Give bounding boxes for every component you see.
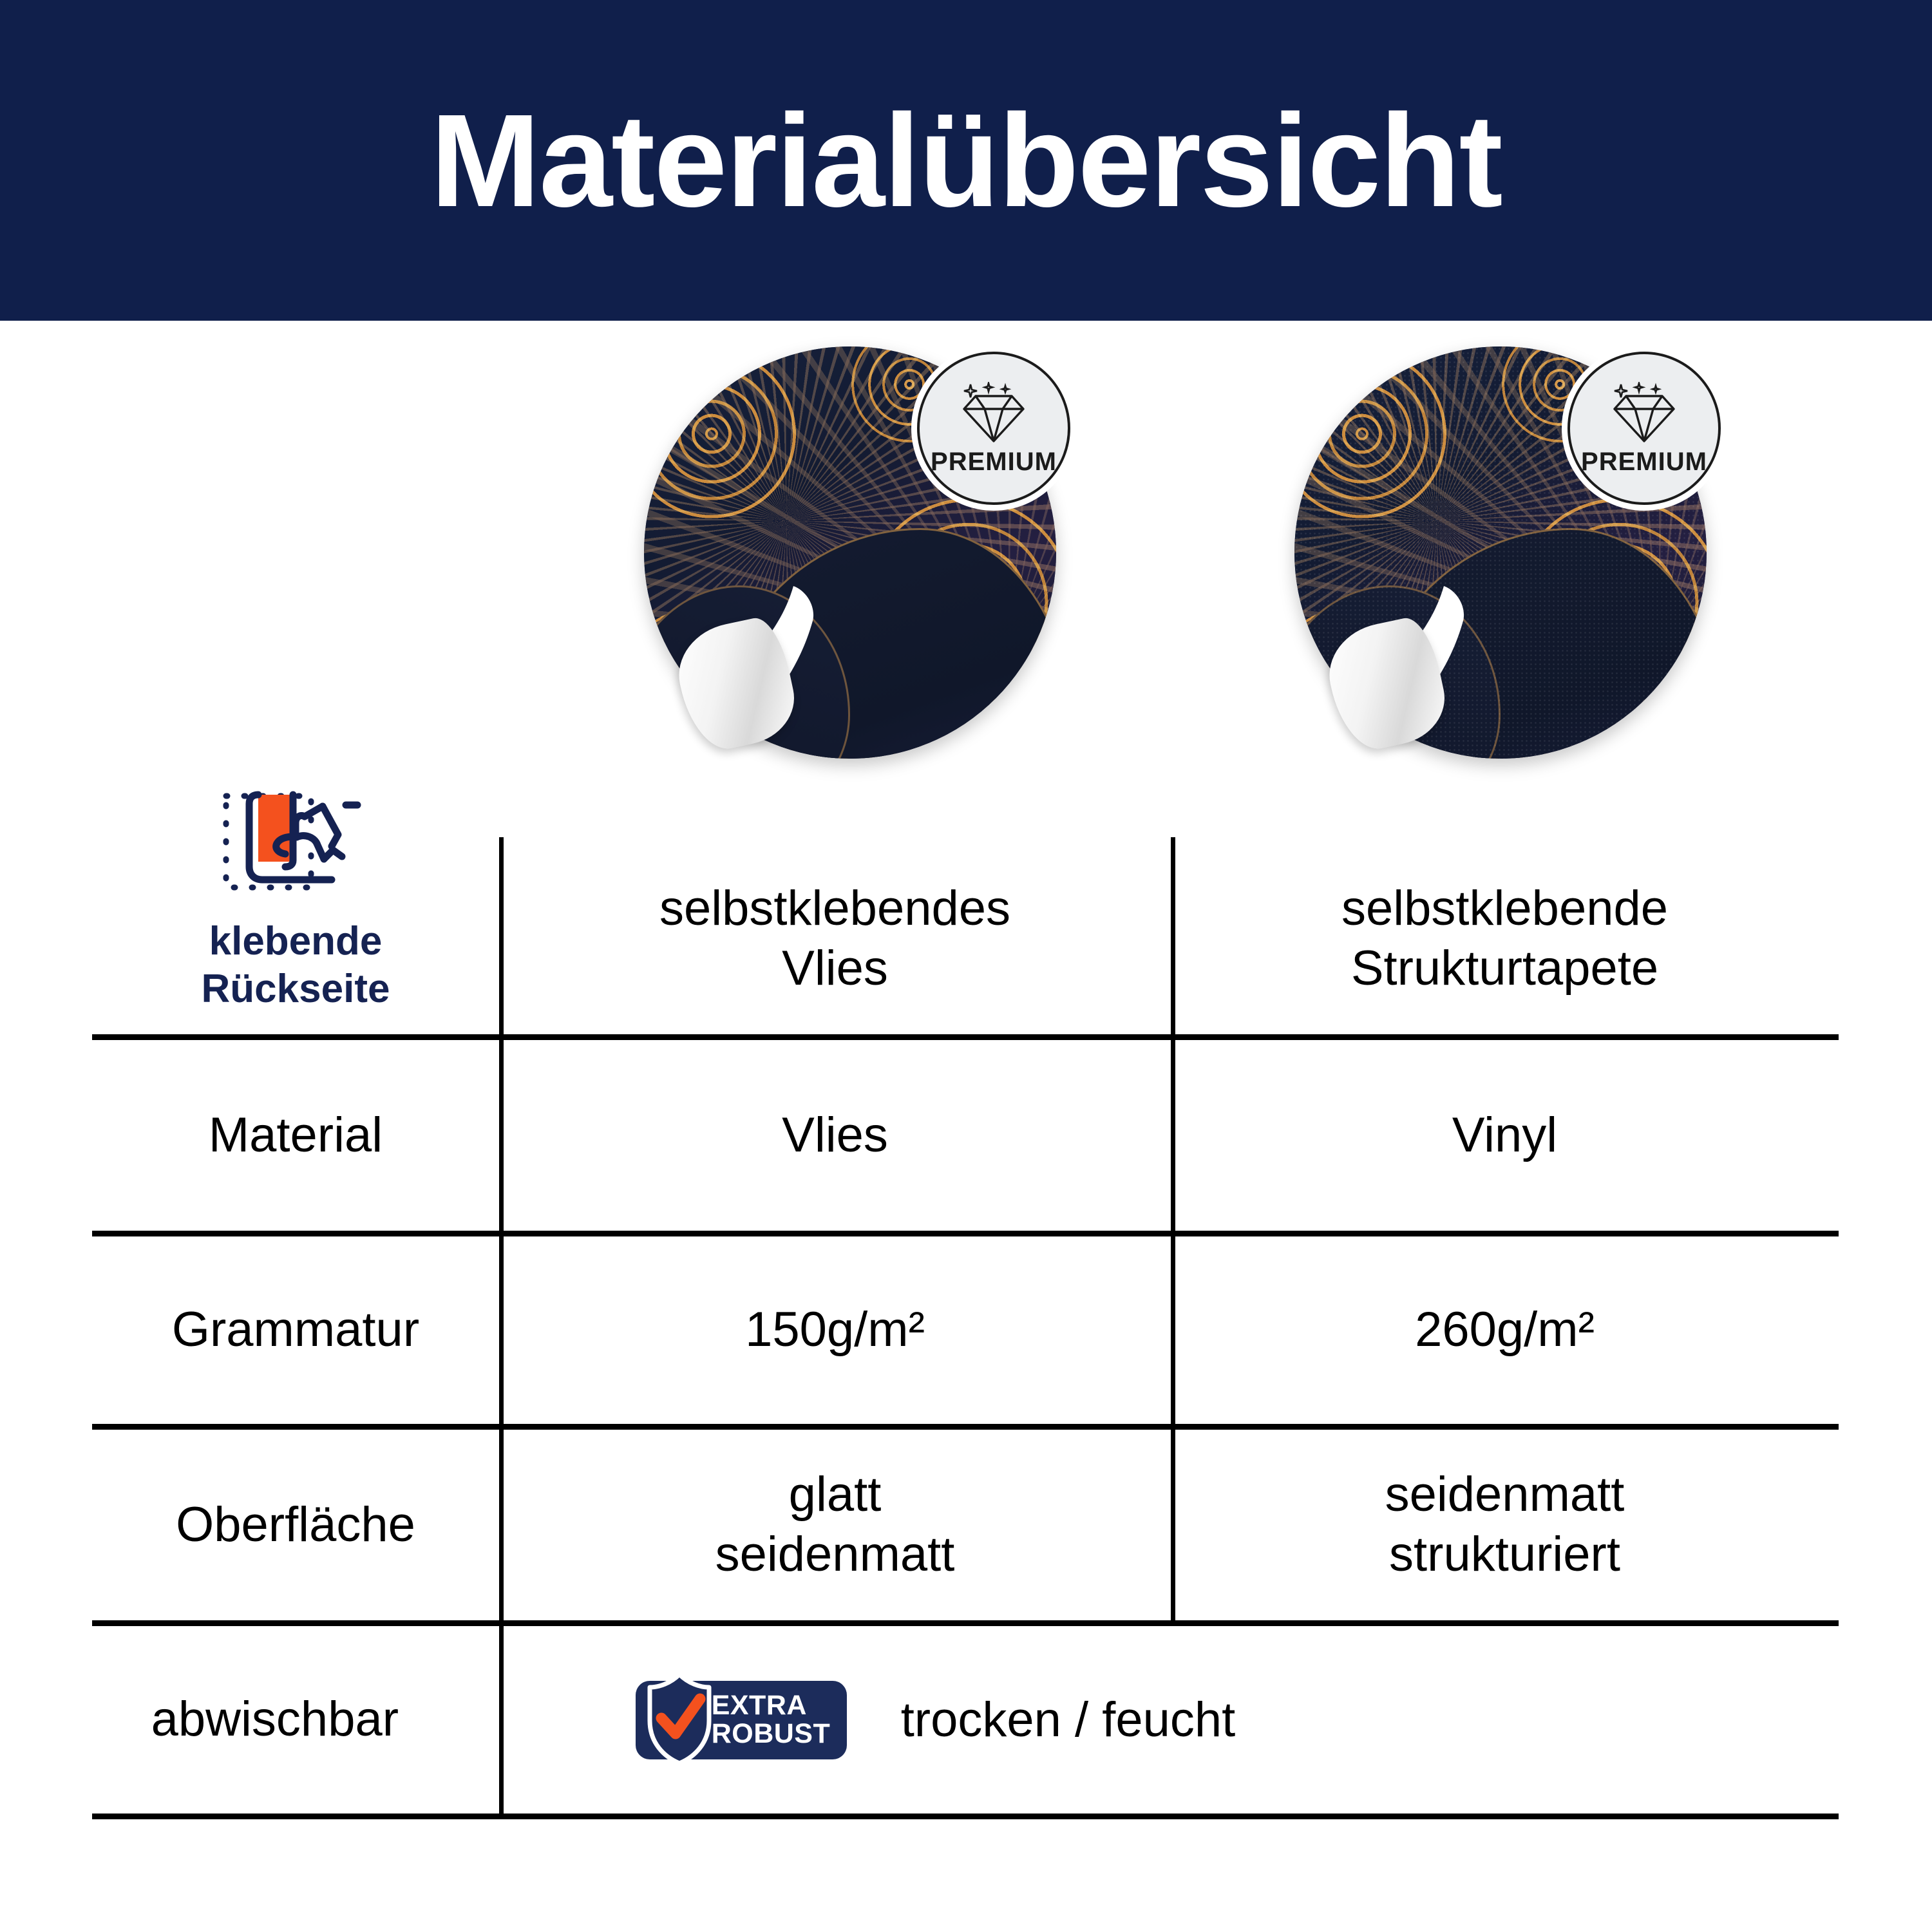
row-separator-5 — [92, 1814, 1839, 1819]
page-header: Materialübersicht — [0, 0, 1932, 321]
column-header-vlies: selbstklebendes Vlies — [499, 844, 1171, 1034]
product-preview-strukturtapete[interactable]: PREMIUM — [1294, 346, 1707, 759]
cell-material-vlies: Vlies — [499, 1040, 1171, 1231]
cell-material-strukturtapete: Vinyl — [1171, 1040, 1839, 1231]
column-header-vlies-line2: Vlies — [782, 939, 888, 999]
row-separator-1 — [92, 1034, 1839, 1040]
extra-robust-badge: EXTRA ROBUST — [636, 1681, 847, 1759]
product-preview-vlies[interactable]: PREMIUM — [644, 346, 1056, 759]
diamond-icon — [956, 382, 1031, 446]
table-row: Grammatur 150g/m² 260g/m² — [92, 1236, 1839, 1424]
row-separator-3 — [92, 1424, 1839, 1430]
product-preview-row: PREMIUM — [0, 321, 1932, 784]
header-cell-spacer — [92, 844, 499, 1034]
cell-oberflaeche-strukturtapete-line1: seidenmatt — [1385, 1465, 1625, 1525]
row-label-oberflaeche: Oberfläche — [92, 1430, 499, 1620]
cell-oberflaeche-vlies: glatt seidenmatt — [499, 1430, 1171, 1620]
cell-grammatur-vlies: 150g/m² — [499, 1236, 1171, 1424]
premium-badge: PREMIUM — [1567, 352, 1721, 505]
diamond-icon — [1607, 382, 1681, 446]
extra-robust-label: EXTRA ROBUST — [712, 1692, 831, 1748]
material-overview-page: Materialübersicht — [0, 0, 1932, 1932]
table-header-row: selbstklebendes Vlies selbstklebende Str… — [92, 844, 1839, 1034]
premium-badge-label: PREMIUM — [1581, 449, 1707, 475]
row-separator-2 — [92, 1231, 1839, 1236]
row-label-grammatur: Grammatur — [92, 1236, 499, 1424]
cell-oberflaeche-vlies-line1: glatt — [789, 1465, 882, 1525]
premium-badge-label: PREMIUM — [931, 449, 1057, 475]
table-row: abwischbar EXTRA ROBUST trocken / feucht — [92, 1626, 1839, 1814]
row-label-abwischbar: abwischbar — [92, 1626, 458, 1814]
table-row: Material Vlies Vinyl — [92, 1040, 1839, 1231]
page-title: Materialübersicht — [430, 95, 1501, 227]
extra-robust-line2: ROBUST — [712, 1718, 831, 1749]
cell-oberflaeche-vlies-line2: seidenmatt — [715, 1525, 955, 1585]
extra-robust-line1: EXTRA — [712, 1690, 807, 1721]
cell-abwischbar-value: EXTRA ROBUST trocken / feucht — [458, 1626, 1839, 1814]
cell-oberflaeche-strukturtapete: seidenmatt strukturiert — [1171, 1430, 1839, 1620]
column-header-vlies-line1: selbstklebendes — [659, 879, 1010, 939]
cell-oberflaeche-strukturtapete-line2: strukturiert — [1389, 1525, 1620, 1585]
premium-badge: PREMIUM — [917, 352, 1070, 505]
column-header-strukturtapete-line2: Strukturtapete — [1351, 939, 1658, 999]
shield-check-icon — [645, 1671, 714, 1767]
column-header-strukturtapete-line1: selbstklebende — [1341, 879, 1668, 939]
table-row: Oberfläche glatt seidenmatt seidenmatt s… — [92, 1430, 1839, 1620]
column-header-strukturtapete: selbstklebende Strukturtapete — [1171, 844, 1839, 1034]
cell-grammatur-strukturtapete: 260g/m² — [1171, 1236, 1839, 1424]
abwischbar-value-text: trocken / feucht — [901, 1692, 1236, 1748]
row-label-material: Material — [92, 1040, 499, 1231]
row-separator-4 — [92, 1620, 1839, 1626]
